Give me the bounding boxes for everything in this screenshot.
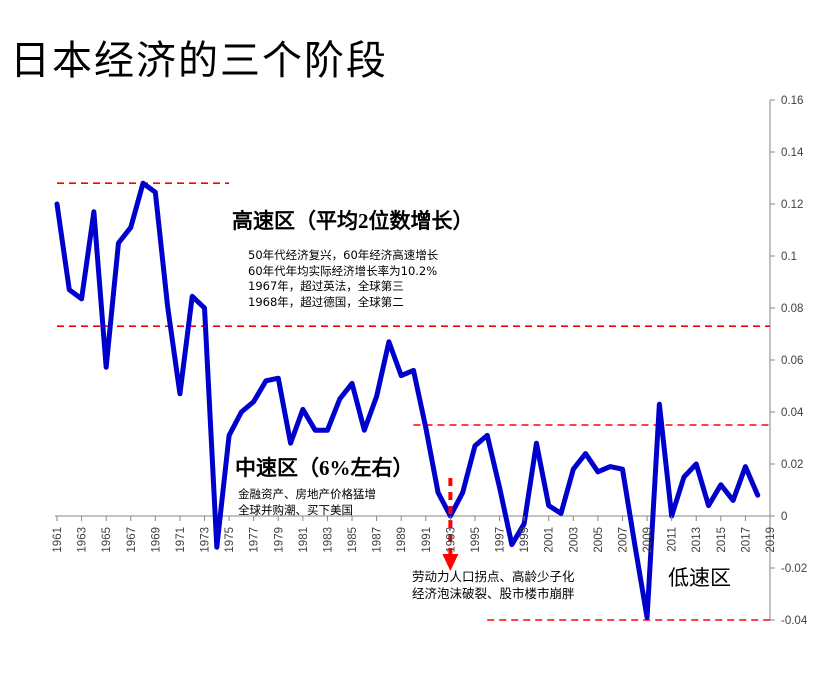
x-axis-tick-label: 2001 [544, 527, 556, 553]
x-axis-tick-label: 1981 [298, 527, 310, 553]
phase1-line-4: 1968年，超过德国，全球第二 [248, 295, 438, 311]
x-axis-tick-label: 1987 [372, 527, 384, 553]
x-axis-tick-label: 1977 [249, 527, 261, 553]
x-axis-tick-label: 2013 [691, 527, 703, 553]
x-axis-tick-label: 2005 [593, 527, 605, 553]
phase2-heading: 中速区（6%左右） [235, 452, 414, 482]
x-axis-tick-label: 2019 [765, 527, 777, 553]
x-axis-tick-label: 1969 [150, 527, 162, 553]
phase2-body: 金融资产、房地产价格猛增 全球并购潮、买下美国 [238, 487, 376, 518]
marker-arrow-group [442, 478, 458, 571]
x-axis-tick-label: 1983 [322, 527, 334, 553]
phase1-body: 50年代经济复兴，60年经济高速增长 60年代年均实际经济增长率为10.2% 1… [248, 248, 438, 310]
phase3-body: 劳动力人口拐点、高龄少子化 经济泡沫破裂、股市楼市崩胖 [412, 568, 575, 602]
phase1-heading: 高速区（平均2位数增长） [232, 205, 474, 235]
x-axis-tick-label: 1979 [273, 527, 285, 553]
y-axis-tick-label: -0.04 [781, 615, 808, 627]
x-axis-tick-label: 1967 [126, 527, 138, 553]
x-axis-tick-label: 1961 [52, 527, 64, 553]
phase2-line-1: 金融资产、房地产价格猛增 [238, 487, 376, 503]
x-axis-tick-label: 2007 [617, 527, 629, 553]
x-axis-tick-label: 1991 [421, 527, 433, 553]
y-axis-tick-label: 0.1 [781, 251, 797, 263]
phase3-line-2: 经济泡沫破裂、股市楼市崩胖 [412, 585, 575, 602]
x-axis-tick-label: 2015 [716, 527, 728, 553]
y-axis-tick-label: 0.02 [781, 459, 803, 471]
x-axis-tick-label: 2009 [642, 527, 654, 553]
y-axis-tick-label: 0.06 [781, 355, 803, 367]
phase2-line-2: 全球并购潮、买下美国 [238, 503, 376, 519]
x-axis-tick-label: 1973 [200, 527, 212, 553]
y-axis-tick-label: 0.04 [781, 407, 804, 419]
x-axis-tick-label: 1995 [470, 527, 482, 553]
y-axis-tick-label: -0.02 [781, 563, 807, 575]
x-axis-tick-label: 1965 [101, 527, 113, 553]
y-axis-tick-label: 0.14 [781, 147, 804, 159]
x-axis-tick-label: 1975 [224, 527, 236, 553]
x-axis-tick-label: 1985 [347, 527, 359, 553]
x-axis-tick-label: 1963 [77, 527, 89, 553]
y-axis-tick-label: 0 [781, 511, 787, 523]
y-axis-tick-label: 0.12 [781, 199, 803, 211]
x-axis-tick-label: 1993 [445, 527, 457, 553]
x-axis-tick-label: 1989 [396, 527, 408, 553]
y-axis-tick-label: 0.16 [781, 95, 803, 107]
x-axis-tick-label: 2003 [568, 527, 580, 553]
x-axis-tick-label: 1997 [495, 527, 507, 553]
x-axis-tick-label: 2011 [667, 527, 679, 552]
x-axis-tick-label: 1971 [175, 527, 187, 553]
phase1-line-2: 60年代年均实际经济增长率为10.2% [248, 264, 438, 280]
phase3-line-1: 劳动力人口拐点、高龄少子化 [412, 568, 575, 585]
phase1-line-1: 50年代经济复兴，60年经济高速增长 [248, 248, 438, 264]
x-axis-ticks: 1961196319651967196919711973197519771979… [52, 516, 777, 553]
phase1-line-3: 1967年，超过英法，全球第三 [248, 279, 438, 295]
x-axis-tick-label: 1999 [519, 527, 531, 553]
phase3-heading: 低速区 [668, 562, 731, 592]
y-axis-tick-label: 0.08 [781, 303, 803, 315]
x-axis-tick-label: 2017 [740, 527, 752, 553]
